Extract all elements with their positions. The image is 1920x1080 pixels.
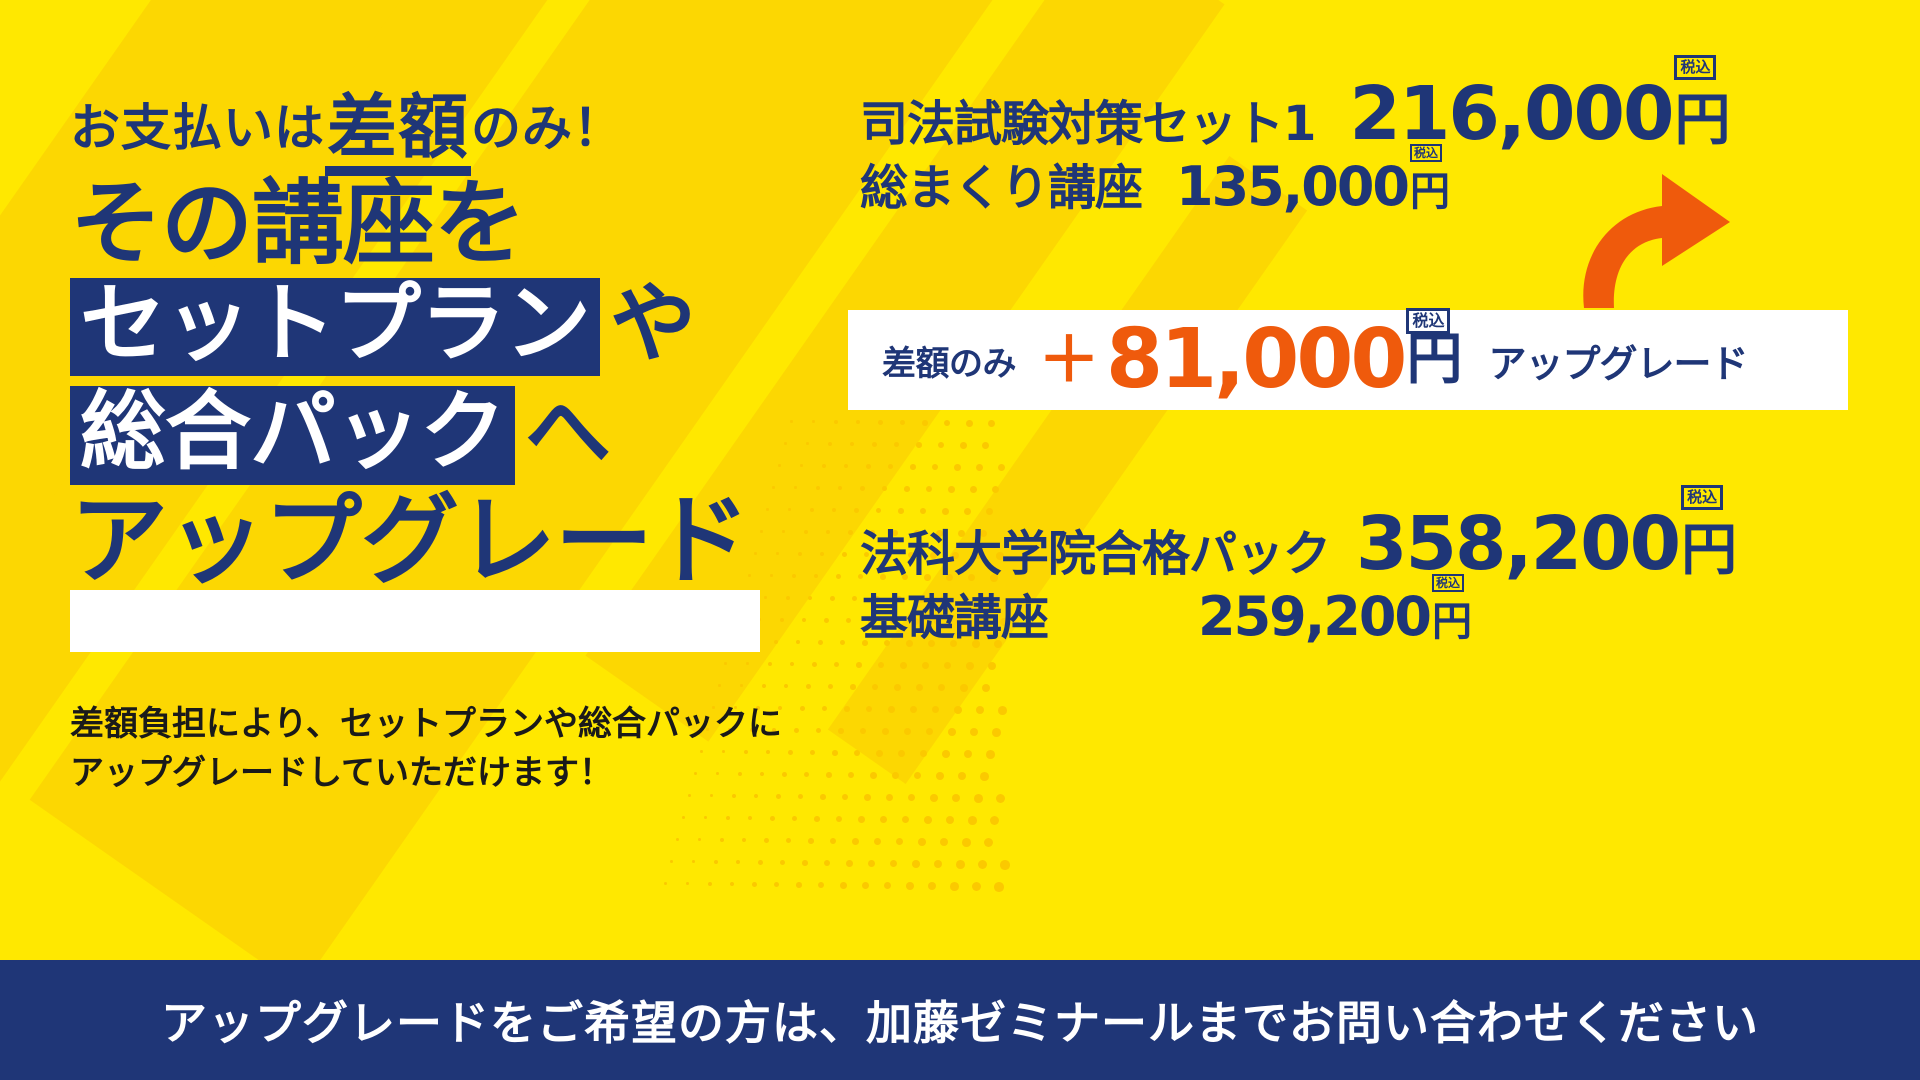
- kicker-suffix: のみ！: [471, 99, 624, 157]
- product-name: 司法試験対策セット1: [860, 100, 1315, 148]
- difference-label: 差額のみ: [882, 336, 1016, 385]
- product-name: 法科大学院合格パック: [860, 530, 1330, 578]
- base-course-name: 基礎講座: [860, 594, 1048, 642]
- lead-paragraph: 差額負担により、セットプランや総合パックに アップグレードしていただけます！: [70, 700, 810, 799]
- price-row-product: 司法試験対策セット1 216,000 税込 円: [860, 80, 1920, 148]
- kicker: お支払いは差額のみ！: [70, 88, 624, 176]
- currency-yen: 円: [1681, 518, 1737, 583]
- lead-line-1: 差額負担により、セットプランや総合パックに: [70, 700, 810, 749]
- footer-message: アップグレードをご希望の方は、加藤ゼミナールまでお問い合わせください: [161, 987, 1759, 1053]
- lead-line-2: アップグレードしていただけます！: [70, 749, 810, 798]
- currency-yen: 円: [1674, 88, 1730, 153]
- tax-included-badge: 税込: [1410, 144, 1442, 162]
- footer-bar: アップグレードをご希望の方は、加藤ゼミナールまでお問い合わせください: [0, 960, 1920, 1080]
- kicker-highlight: 差額: [325, 92, 471, 176]
- tax-included-badge: 税込: [1432, 574, 1464, 592]
- headline-line-2: セットプランや: [70, 278, 830, 376]
- product-price-value: 216,000: [1349, 80, 1672, 148]
- price-row-product: 法科大学院合格パック 358,200 税込 円: [860, 510, 1920, 578]
- currency-yen: 円: [1406, 327, 1462, 392]
- price-block: 司法試験対策セット1 216,000 税込 円 総まくり講座 135,000 税…: [840, 80, 1920, 212]
- upgrade-action-label: アップグレード: [1488, 333, 1747, 388]
- base-course-price: 259,200 税込 円: [1198, 592, 1472, 642]
- difference-amount: 81,000: [1106, 322, 1404, 397]
- yen-group: 税込 円: [1681, 510, 1737, 578]
- right-content: 司法試験対策セット1 216,000 税込 円 総まくり講座 135,000 税…: [840, 0, 1920, 960]
- banner-root: お支払いは差額のみ！ その講座を セットプランや 総合パックへ アップグレード …: [0, 0, 1920, 1080]
- difference-card: 差額のみ ＋ 81,000 税込 円 アップグレード: [848, 310, 1848, 410]
- headline-line-2-suffix: や: [600, 281, 695, 367]
- headline-line-1: その講座を: [70, 178, 830, 270]
- price-block: 法科大学院合格パック 358,200 税込 円 基礎講座 259,200 税込: [840, 510, 1920, 642]
- upgrade-underline-bar: [70, 590, 760, 652]
- tax-included-badge: 税込: [1681, 485, 1723, 510]
- headline: その講座を セットプランや 総合パックへ: [70, 178, 830, 495]
- headline-line-3: 総合パックへ: [70, 386, 830, 484]
- plus-sign-icon: ＋: [1038, 329, 1100, 391]
- headline-upgrade: アップグレード: [70, 492, 749, 590]
- base-course-price: 135,000 税込 円: [1176, 162, 1450, 212]
- headline-line-3-suffix: へ: [515, 389, 610, 475]
- price-row-base: 総まくり講座 135,000 税込 円: [860, 162, 1920, 212]
- currency-yen: 円: [1410, 169, 1450, 215]
- tax-included-badge: 税込: [1674, 55, 1716, 80]
- currency-yen: 円: [1432, 599, 1472, 645]
- yen-group: 税込 円: [1432, 592, 1472, 642]
- kicker-prefix: お支払いは: [70, 99, 325, 157]
- headline-line-4: アップグレード: [70, 492, 749, 590]
- headline-chip-total-pack: 総合パック: [70, 386, 515, 484]
- yen-group: 税込 円: [1410, 162, 1450, 212]
- yen-group: 税込 円: [1406, 334, 1462, 386]
- base-price-value: 135,000: [1176, 162, 1408, 212]
- product-price: 358,200 税込 円: [1356, 510, 1737, 578]
- left-content: お支払いは差額のみ！ その講座を セットプランや 総合パックへ アップグレード …: [0, 0, 840, 960]
- tax-included-badge: 税込: [1406, 308, 1450, 334]
- base-course-name: 総まくり講座: [860, 164, 1142, 212]
- product-price-value: 358,200: [1356, 510, 1679, 578]
- headline-chip-set-plan: セットプラン: [70, 278, 600, 376]
- base-price-value: 259,200: [1198, 592, 1430, 642]
- product-price: 216,000 税込 円: [1349, 80, 1730, 148]
- price-row-base: 基礎講座 259,200 税込 円: [860, 592, 1920, 642]
- yen-group: 税込 円: [1674, 80, 1730, 148]
